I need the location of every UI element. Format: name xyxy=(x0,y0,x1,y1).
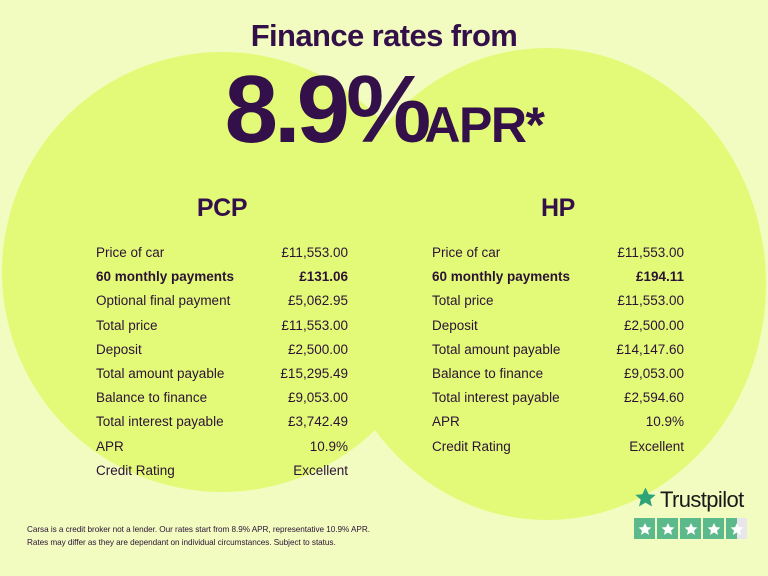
finance-row-label: Credit Rating xyxy=(432,435,511,459)
finance-row-value: £2,500.00 xyxy=(288,338,348,362)
headline-rate-value: 8.9% xyxy=(225,56,428,163)
finance-row: Balance to finance£9,053.00 xyxy=(432,362,684,386)
finance-row-value: £9,053.00 xyxy=(624,362,684,386)
finance-row-label: Credit Rating xyxy=(96,459,175,483)
finance-row-label: 60 monthly payments xyxy=(96,265,234,289)
trustpilot-star-icon xyxy=(703,518,724,539)
finance-row-value: £2,594.60 xyxy=(624,386,684,410)
finance-row: Optional final payment£5,062.95 xyxy=(96,289,348,313)
page-title: Finance rates from xyxy=(0,20,768,51)
finance-row: 60 monthly payments£194.11 xyxy=(432,265,684,289)
finance-row-value: £11,553.00 xyxy=(617,241,684,265)
finance-row-value: £9,053.00 xyxy=(288,386,348,410)
finance-row-label: Total interest payable xyxy=(96,410,224,434)
finance-row: Total amount payable£15,295.49 xyxy=(96,362,348,386)
finance-row: Total price£11,553.00 xyxy=(96,314,348,338)
trustpilot-wordmark: Trustpilot xyxy=(634,487,754,513)
finance-row-label: Total price xyxy=(96,314,158,338)
finance-row-value: £14,147.60 xyxy=(616,338,684,362)
finance-column-pcp: PCP Price of car£11,553.0060 monthly pay… xyxy=(74,196,370,483)
finance-rates-banner: Finance rates from 8.9%APR* PCP Price of… xyxy=(0,0,768,576)
finance-row-value: £131.06 xyxy=(299,265,348,289)
finance-rows-pcp: Price of car£11,553.0060 monthly payment… xyxy=(74,241,370,483)
finance-row-label: APR xyxy=(96,435,124,459)
finance-column-hp: HP Price of car£11,553.0060 monthly paym… xyxy=(410,196,706,459)
finance-row: Deposit£2,500.00 xyxy=(96,338,348,362)
finance-row: Total interest payable£3,742.49 xyxy=(96,410,348,434)
column-title-hp: HP xyxy=(410,196,706,221)
finance-row-label: 60 monthly payments xyxy=(432,265,570,289)
column-title-pcp: PCP xyxy=(74,196,370,221)
disclaimer: Carsa is a credit broker not a lender. O… xyxy=(27,524,457,549)
finance-row: Balance to finance£9,053.00 xyxy=(96,386,348,410)
finance-row-label: Total amount payable xyxy=(96,362,224,386)
finance-row-label: Total amount payable xyxy=(432,338,560,362)
finance-row-value: £11,553.00 xyxy=(281,241,348,265)
finance-row-value: £5,062.95 xyxy=(288,289,348,313)
finance-row-value: £3,742.49 xyxy=(288,410,348,434)
finance-row-value: £15,295.49 xyxy=(280,362,348,386)
finance-row: Credit RatingExcellent xyxy=(96,459,348,483)
trustpilot-badge[interactable]: Trustpilot xyxy=(634,487,754,539)
finance-row: Price of car£11,553.00 xyxy=(432,241,684,265)
headline-apr-label: APR* xyxy=(424,97,543,153)
finance-row-label: Deposit xyxy=(432,314,478,338)
finance-row-label: APR xyxy=(432,410,460,434)
finance-row: 60 monthly payments£131.06 xyxy=(96,265,348,289)
finance-row-label: Deposit xyxy=(96,338,142,362)
finance-row-label: Price of car xyxy=(96,241,164,265)
finance-row: Total interest payable£2,594.60 xyxy=(432,386,684,410)
finance-row-label: Optional final payment xyxy=(96,289,230,313)
finance-row-value: 10.9% xyxy=(310,435,348,459)
finance-row-value: £194.11 xyxy=(636,265,684,289)
finance-row-value: £11,553.00 xyxy=(281,314,348,338)
finance-row-value: £2,500.00 xyxy=(624,314,684,338)
finance-row-label: Price of car xyxy=(432,241,500,265)
finance-row-value: Excellent xyxy=(629,435,684,459)
headline-rate-group: 8.9%APR* xyxy=(0,62,768,158)
disclaimer-line-1: Carsa is a credit broker not a lender. O… xyxy=(27,524,457,537)
disclaimer-line-2: Rates may differ as they are dependant o… xyxy=(27,537,457,550)
trustpilot-star-icon xyxy=(634,518,655,539)
finance-row-value: 10.9% xyxy=(646,410,684,434)
finance-row-value: Excellent xyxy=(293,459,348,483)
finance-row-label: Balance to finance xyxy=(432,362,543,386)
finance-row: APR10.9% xyxy=(432,410,684,434)
finance-row: Total amount payable£14,147.60 xyxy=(432,338,684,362)
finance-row-label: Total interest payable xyxy=(432,386,560,410)
finance-row: APR10.9% xyxy=(96,435,348,459)
trustpilot-star-icon xyxy=(634,486,657,514)
finance-row: Price of car£11,553.00 xyxy=(96,241,348,265)
trustpilot-star-icon xyxy=(657,518,678,539)
trustpilot-name: Trustpilot xyxy=(660,489,744,511)
trustpilot-star-icon xyxy=(680,518,701,539)
finance-row: Total price£11,553.00 xyxy=(432,289,684,313)
finance-rows-hp: Price of car£11,553.0060 monthly payment… xyxy=(410,241,706,459)
finance-row-label: Total price xyxy=(432,289,494,313)
finance-row: Credit RatingExcellent xyxy=(432,435,684,459)
finance-row-label: Balance to finance xyxy=(96,386,207,410)
trustpilot-star-icon xyxy=(726,518,747,539)
finance-row: Deposit£2,500.00 xyxy=(432,314,684,338)
trustpilot-star-rating xyxy=(634,518,754,539)
finance-row-value: £11,553.00 xyxy=(617,289,684,313)
